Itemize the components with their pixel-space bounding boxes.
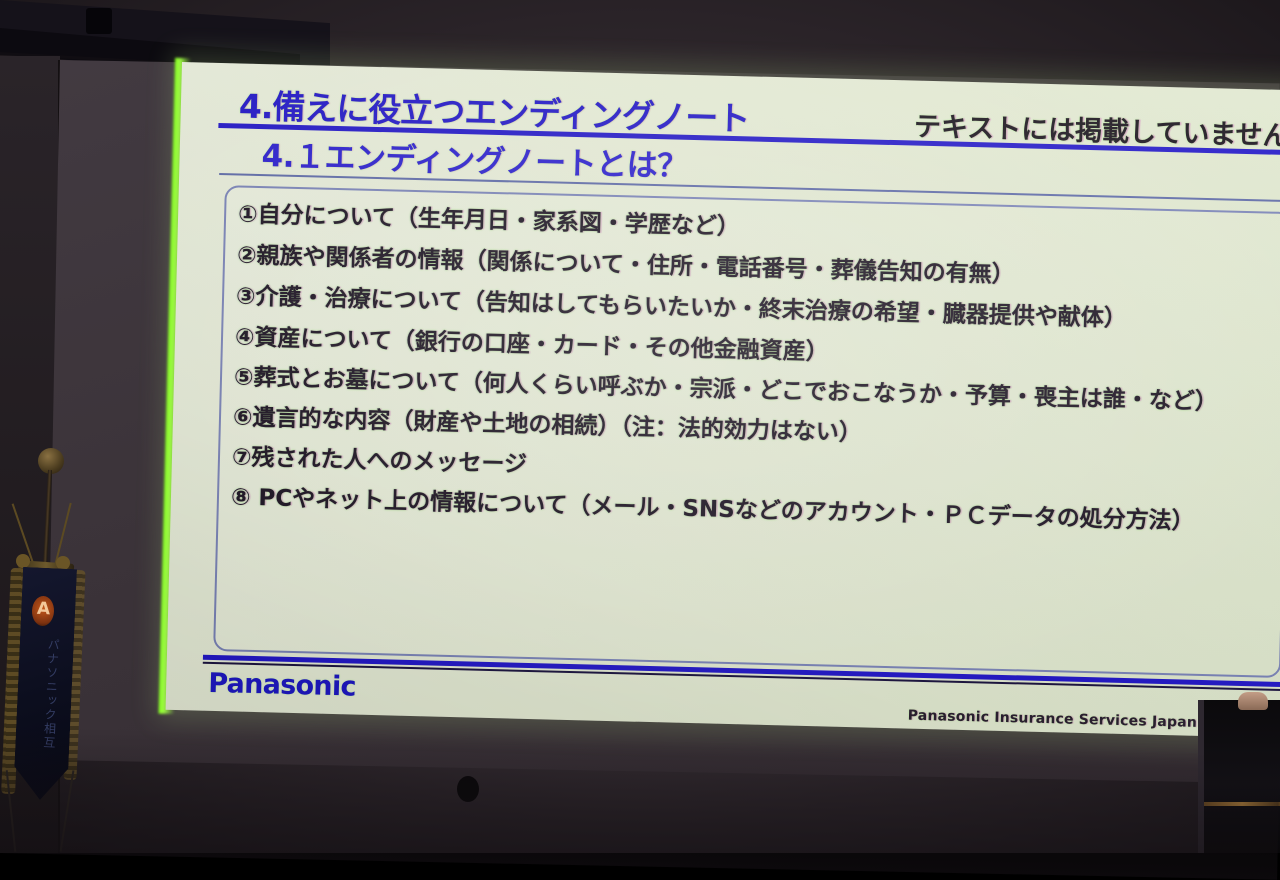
ceiling-light-fixture-icon — [86, 8, 112, 34]
floor-shadow-gradient — [0, 726, 1280, 880]
room-background: 4.備えに役立つエンディングノート 4.１エンディングノートとは？ テキストには… — [0, 0, 1280, 853]
slide-canvas: 4.備えに役立つエンディングノート 4.１エンディングノートとは？ テキストには… — [166, 62, 1280, 738]
list-item: ⑧ PCやネット上の情報について（メール・SNSなどのアカウント・ＰＣデータの処… — [231, 486, 1280, 536]
banner-emblem-letter: A — [37, 599, 51, 620]
banner-tassel-left — [16, 554, 30, 568]
panasonic-logo: Panasonic — [208, 668, 356, 703]
content-box: ①自分について（生年月日・家系図・学歴など） ②親族や関係者の情報（関係について… — [213, 185, 1280, 678]
banner-tassel-right — [56, 556, 70, 570]
projected-slide: 4.備えに役立つエンディングノート 4.１エンディングノートとは？ テキストには… — [166, 62, 1280, 738]
presenter-hand — [1238, 692, 1268, 710]
bullet-list: ①自分について（生年月日・家系図・学歴など） ②親族や関係者の情報（関係について… — [219, 187, 1280, 536]
